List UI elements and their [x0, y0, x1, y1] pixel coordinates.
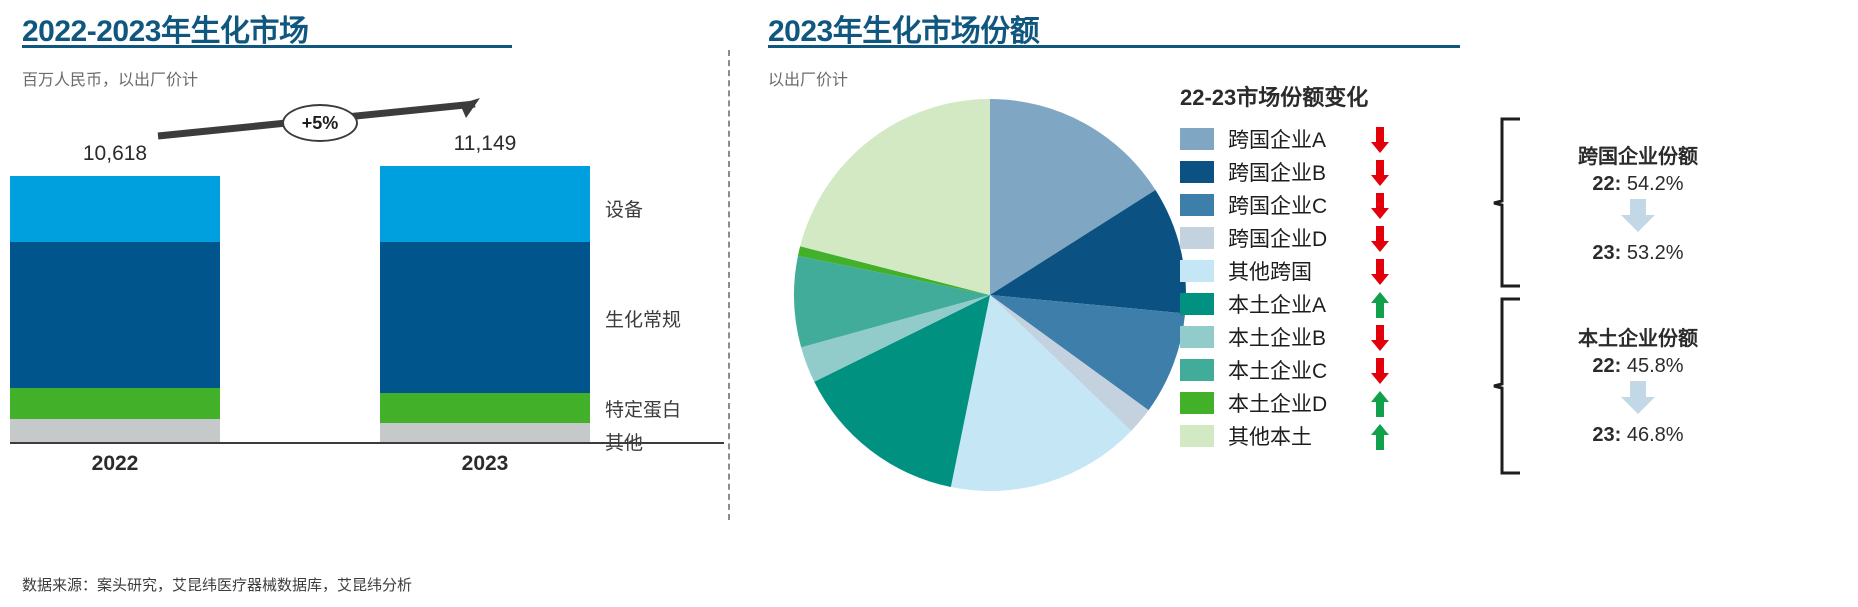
legend-swatch-icon: [1180, 161, 1214, 183]
legend-item-label: 本土企业C: [1228, 355, 1370, 385]
stacked-bar-chart: +5% 10,618 11,149 2022 2023 设备 生化常规 特定蛋白…: [0, 90, 740, 510]
legend-swatch-icon: [1180, 293, 1214, 315]
bracket-domestic: [1492, 295, 1522, 477]
bar-segment-other-2022: [10, 419, 220, 442]
bar-segment-equipment-2023: [380, 166, 590, 242]
legend-item-label: 跨国企业A: [1228, 124, 1370, 154]
share-box-domestic: 本土企业份额 22: 45.8% 23: 46.8%: [1550, 322, 1726, 447]
share-down-arrow-dom: [1550, 381, 1726, 420]
trend-up-icon: [1370, 291, 1390, 317]
legend-item-label: 跨国企业C: [1228, 190, 1370, 220]
legend-item-label: 本土企业B: [1228, 322, 1370, 352]
left-panel-subtitle: 百万人民币，以出厂价计: [22, 66, 198, 90]
source-note: 数据来源：案头研究，艾昆纬医疗器械数据库，艾昆纬分析: [22, 574, 412, 595]
panel-divider: [728, 50, 730, 520]
bar-xlabel-2022: 2022: [10, 452, 220, 476]
right-title-rule: [768, 45, 1460, 48]
share-year-value-23-mnc: 53.2%: [1627, 242, 1684, 264]
bar-segment-equipment-2022: [10, 176, 220, 242]
legend-item-4[interactable]: 跨国企业D: [1180, 221, 1470, 254]
share-value-2023-multinational: 23: 53.2%: [1550, 242, 1726, 265]
left-panel-title: 2022-2023年生化市场: [22, 6, 308, 50]
legend-swatch-icon: [1180, 128, 1214, 150]
share-title-domestic: 本土企业份额: [1550, 322, 1726, 351]
share-year-value-22-mnc: 54.2%: [1627, 173, 1684, 195]
share-year-value-22-dom: 45.8%: [1627, 355, 1684, 377]
trend-down-icon: [1370, 225, 1390, 251]
bar-segment-protein-2023: [380, 393, 590, 423]
legend-item-9[interactable]: 本土企业D: [1180, 386, 1470, 419]
growth-badge: +5%: [282, 104, 358, 142]
legend-item-3[interactable]: 跨国企业C: [1180, 188, 1470, 221]
legend-item-label: 跨国企业D: [1228, 223, 1370, 253]
legend-title: 22-23市场份额变化: [1180, 80, 1470, 112]
trend-down-icon: [1370, 357, 1390, 383]
legend-rows: 跨国企业A跨国企业B跨国企业C跨国企业D其他跨国本土企业A本土企业B本土企业C本…: [1180, 122, 1470, 452]
share-down-arrow-mnc: [1550, 199, 1726, 238]
trend-up-icon: [1370, 390, 1390, 416]
legend-swatch-icon: [1180, 359, 1214, 381]
market-share-pie-panel: 2023年生化市场份额 以出厂价计 22-23市场份额变化 跨国企业A跨国企业B…: [760, 0, 1858, 607]
pie-chart-svg: [790, 95, 1190, 495]
legend-swatch-icon: [1180, 194, 1214, 216]
trend-down-icon: [1370, 159, 1390, 185]
bar-total-2022: 10,618: [10, 142, 220, 166]
share-year-label-23-dom: 23:: [1592, 424, 1621, 446]
segment-label-other: 其他: [605, 428, 643, 455]
trend-down-icon: [1370, 258, 1390, 284]
bar-xlabel-2023: 2023: [380, 452, 590, 476]
legend-swatch-icon: [1180, 326, 1214, 348]
legend-swatch-icon: [1180, 260, 1214, 282]
trend-up-icon: [1370, 423, 1390, 449]
legend-item-label: 本土企业A: [1228, 289, 1370, 319]
legend-item-5[interactable]: 其他跨国: [1180, 254, 1470, 287]
share-value-2022-multinational: 22: 54.2%: [1550, 173, 1726, 196]
legend-swatch-icon: [1180, 227, 1214, 249]
pie-legend: 22-23市场份额变化 跨国企业A跨国企业B跨国企业C跨国企业D其他跨国本土企业…: [1180, 80, 1470, 452]
legend-swatch-icon: [1180, 425, 1214, 447]
share-year-label-22-mnc: 22:: [1592, 173, 1621, 195]
trend-down-icon: [1370, 192, 1390, 218]
legend-item-8[interactable]: 本土企业C: [1180, 353, 1470, 386]
bar-segment-protein-2022: [10, 388, 220, 419]
segment-label-protein: 特定蛋白: [605, 395, 681, 422]
legend-item-label: 其他本土: [1228, 421, 1370, 451]
bracket-multinational: [1492, 115, 1522, 290]
bar-segment-routine-2023: [380, 242, 590, 393]
legend-item-2[interactable]: 跨国企业B: [1180, 155, 1470, 188]
share-value-2023-domestic: 23: 46.8%: [1550, 424, 1726, 447]
share-year-label-23-mnc: 23:: [1592, 242, 1621, 264]
legend-item-6[interactable]: 本土企业A: [1180, 287, 1470, 320]
legend-item-label: 本土企业D: [1228, 388, 1370, 418]
pie-chart: [790, 95, 1190, 495]
segment-label-routine: 生化常规: [605, 305, 681, 332]
share-year-label-22-dom: 22:: [1592, 355, 1621, 377]
left-title-rule: [22, 45, 512, 48]
biochem-market-bar-panel: 2022-2023年生化市场 百万人民币，以出厂价计 +5% 10,618 11…: [0, 0, 740, 607]
share-title-multinational: 跨国企业份额: [1550, 140, 1726, 169]
bar-segment-other-2023: [380, 423, 590, 442]
share-value-2022-domestic: 22: 45.8%: [1550, 355, 1726, 378]
bar-column-2023: [380, 166, 590, 442]
legend-item-10[interactable]: 其他本土: [1180, 419, 1470, 452]
bar-column-2022: [10, 176, 220, 442]
share-box-multinational: 跨国企业份额 22: 54.2% 23: 53.2%: [1550, 140, 1726, 265]
legend-item-7[interactable]: 本土企业B: [1180, 320, 1470, 353]
legend-item-label: 其他跨国: [1228, 256, 1370, 286]
right-panel-title: 2023年生化市场份额: [768, 6, 1039, 50]
trend-down-icon: [1370, 324, 1390, 350]
share-year-value-23-dom: 46.8%: [1627, 424, 1684, 446]
legend-swatch-icon: [1180, 392, 1214, 414]
bar-total-2023: 11,149: [380, 132, 590, 156]
right-panel-subtitle: 以出厂价计: [768, 66, 848, 90]
bar-segment-routine-2022: [10, 242, 220, 388]
legend-item-1[interactable]: 跨国企业A: [1180, 122, 1470, 155]
trend-down-icon: [1370, 126, 1390, 152]
legend-item-label: 跨国企业B: [1228, 157, 1370, 187]
segment-label-equipment: 设备: [605, 195, 643, 222]
